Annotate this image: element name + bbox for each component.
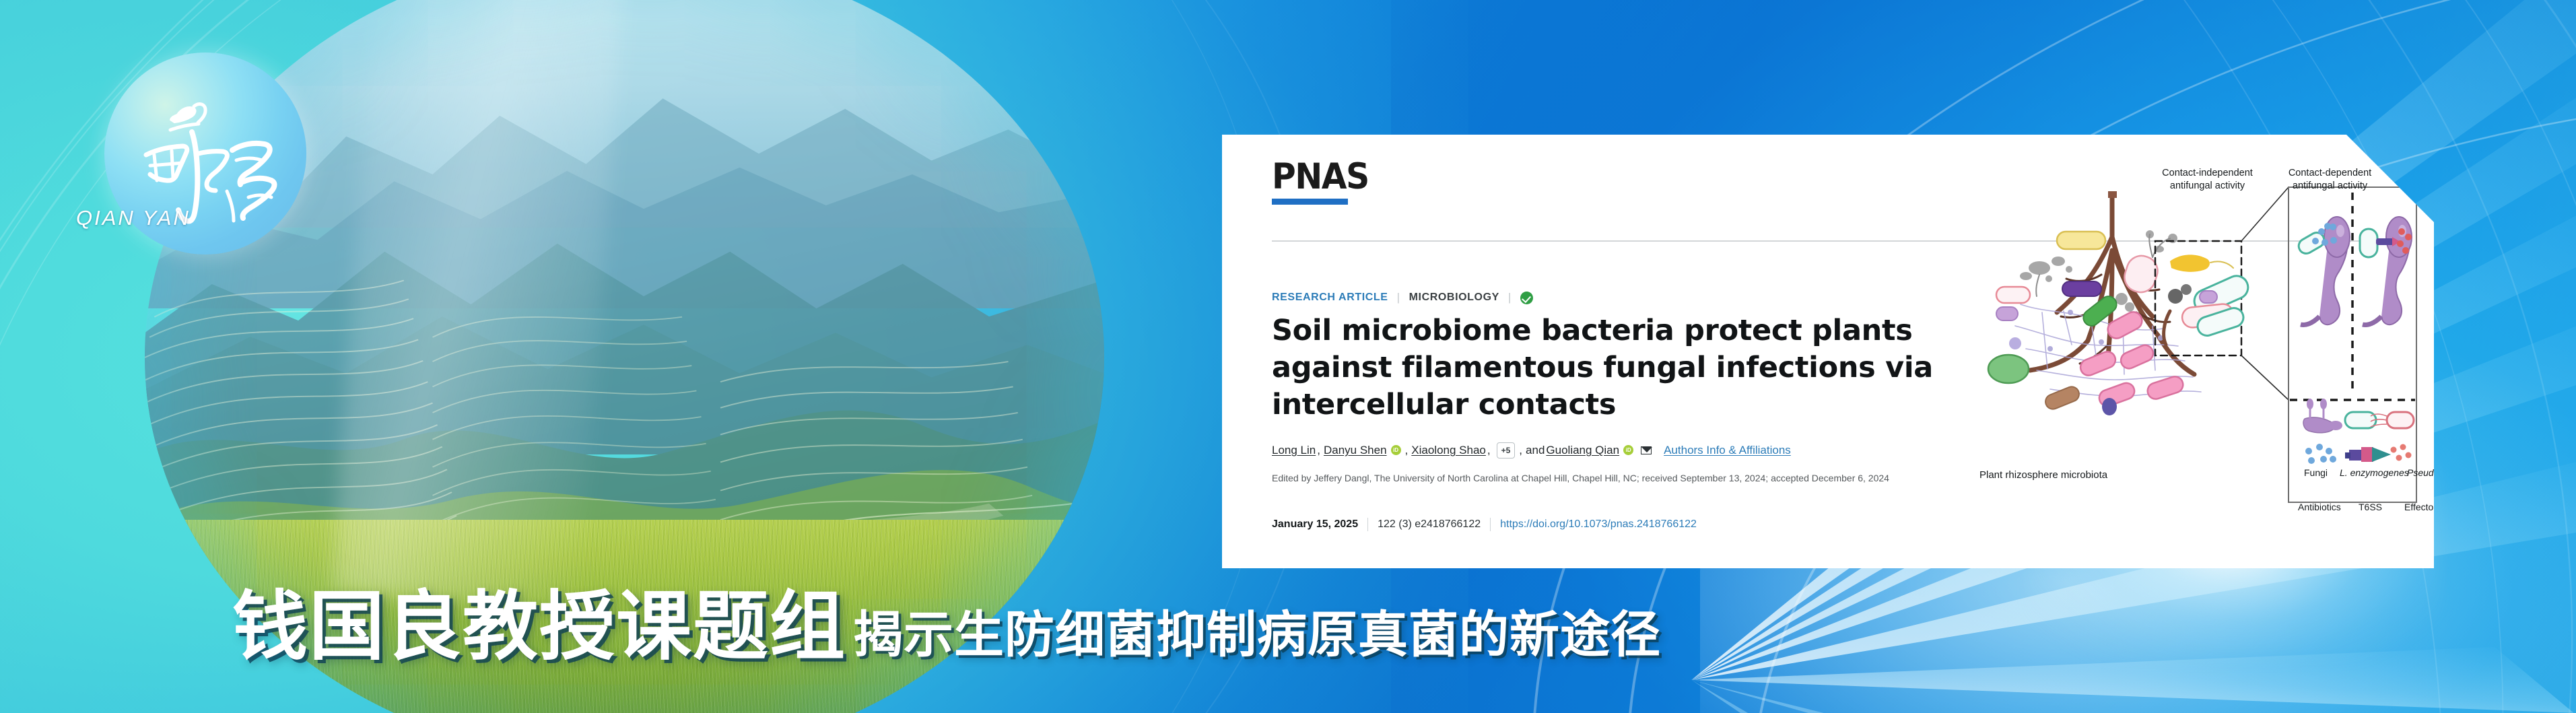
orcid-icon-1[interactable]: iD (1391, 445, 1401, 455)
author-link-3[interactable]: Xiaolong Shao (1411, 442, 1486, 459)
legend-label-fungi: Fungi (2304, 467, 2328, 478)
headline-main-text: 钱国良教授课题组 (232, 589, 846, 665)
authors-and-word: and (1526, 442, 1545, 459)
article-title[interactable]: Soil microbiome bacteria protect plants … (1272, 312, 1952, 423)
publication-date: January 15, 2025 (1272, 518, 1358, 531)
banner-stage: QIAN YAN 钱国良教授课题组 揭示生防细菌抑制病原真菌的新途径 PNAS … (0, 0, 2576, 713)
citation-line: January 15, 2025 122 (3) e2418766122 htt… (1272, 518, 1697, 531)
doi-link[interactable]: https://doi.org/10.1073/pnas.2418766122 (1500, 518, 1697, 531)
edited-by-text: Edited by Jeffery Dangl, The University … (1272, 470, 2026, 486)
pnas-article-card[interactable]: PNAS RESEARCH ARTICLE | MICROBIOLOGY | S… (1222, 135, 2434, 568)
panel-2-line-2: antifungal activity (2271, 180, 2389, 193)
banner-headline: 钱国良教授课题组 揭示生防细菌抑制病原真菌的新途径 (232, 589, 1661, 665)
meta-separator-2: | (1508, 291, 1512, 304)
panel-1-line-1: Contact-independent (2148, 167, 2266, 180)
orcid-icon-2[interactable]: iD (1623, 445, 1633, 455)
article-meta-row: RESEARCH ARTICLE | MICROBIOLOGY | (1272, 291, 1533, 304)
article-authors: Long Lin, Danyu Shen iD, Xiaolong Shao, … (1272, 442, 2026, 459)
more-authors-badge[interactable]: +5 (1497, 442, 1516, 459)
volume-issue: 122 (3) e2418766122 (1378, 518, 1481, 531)
panel-2-line-1: Contact-dependent (2271, 167, 2389, 180)
pnas-wordmark: PNAS (1272, 159, 1369, 195)
author-link-2[interactable]: Danyu Shen (1324, 442, 1387, 459)
panel-heading-contact-dependent: Contact-dependent antifungal activity (2271, 167, 2389, 193)
author-link-last[interactable]: Guoliang Qian (1546, 442, 1619, 459)
legend-label-antibiotics: Antibiotics (2298, 502, 2341, 512)
legend-label-t6ss: T6SS (2359, 502, 2382, 512)
panel-heading-contact-independent: Contact-independent antifungal activity (2148, 167, 2266, 193)
panel-1-line-2: antifungal activity (2148, 180, 2266, 193)
headline-sub-text: 揭示生防细菌抑制病原真菌的新途径 (853, 610, 1661, 665)
open-access-check-icon (1520, 292, 1533, 304)
citation-divider-2 (1490, 518, 1491, 531)
graphical-abstract-caption: Plant rhizosphere microbiota (1979, 469, 2107, 481)
pnas-blue-rule (1272, 199, 1348, 205)
meta-separator-1: | (1397, 291, 1400, 304)
authors-affiliations-link[interactable]: Authors Info & Affiliations (1664, 442, 1791, 459)
legend-label-l-enzymogenes: L. enzymogenes (2340, 467, 2409, 478)
qianyan-logo[interactable]: QIAN YAN (104, 53, 306, 254)
author-link-1[interactable]: Long Lin (1272, 442, 1316, 459)
graphical-abstract-figure[interactable] (1956, 143, 2420, 553)
pnas-masthead[interactable]: PNAS (1272, 159, 1377, 205)
article-type-label[interactable]: RESEARCH ARTICLE (1272, 292, 1388, 304)
email-envelope-icon[interactable] (1641, 446, 1652, 454)
citation-divider-1 (1367, 518, 1368, 531)
article-subject-label[interactable]: MICROBIOLOGY (1409, 292, 1499, 304)
logo-pinyin-text: QIAN YAN (76, 206, 191, 230)
